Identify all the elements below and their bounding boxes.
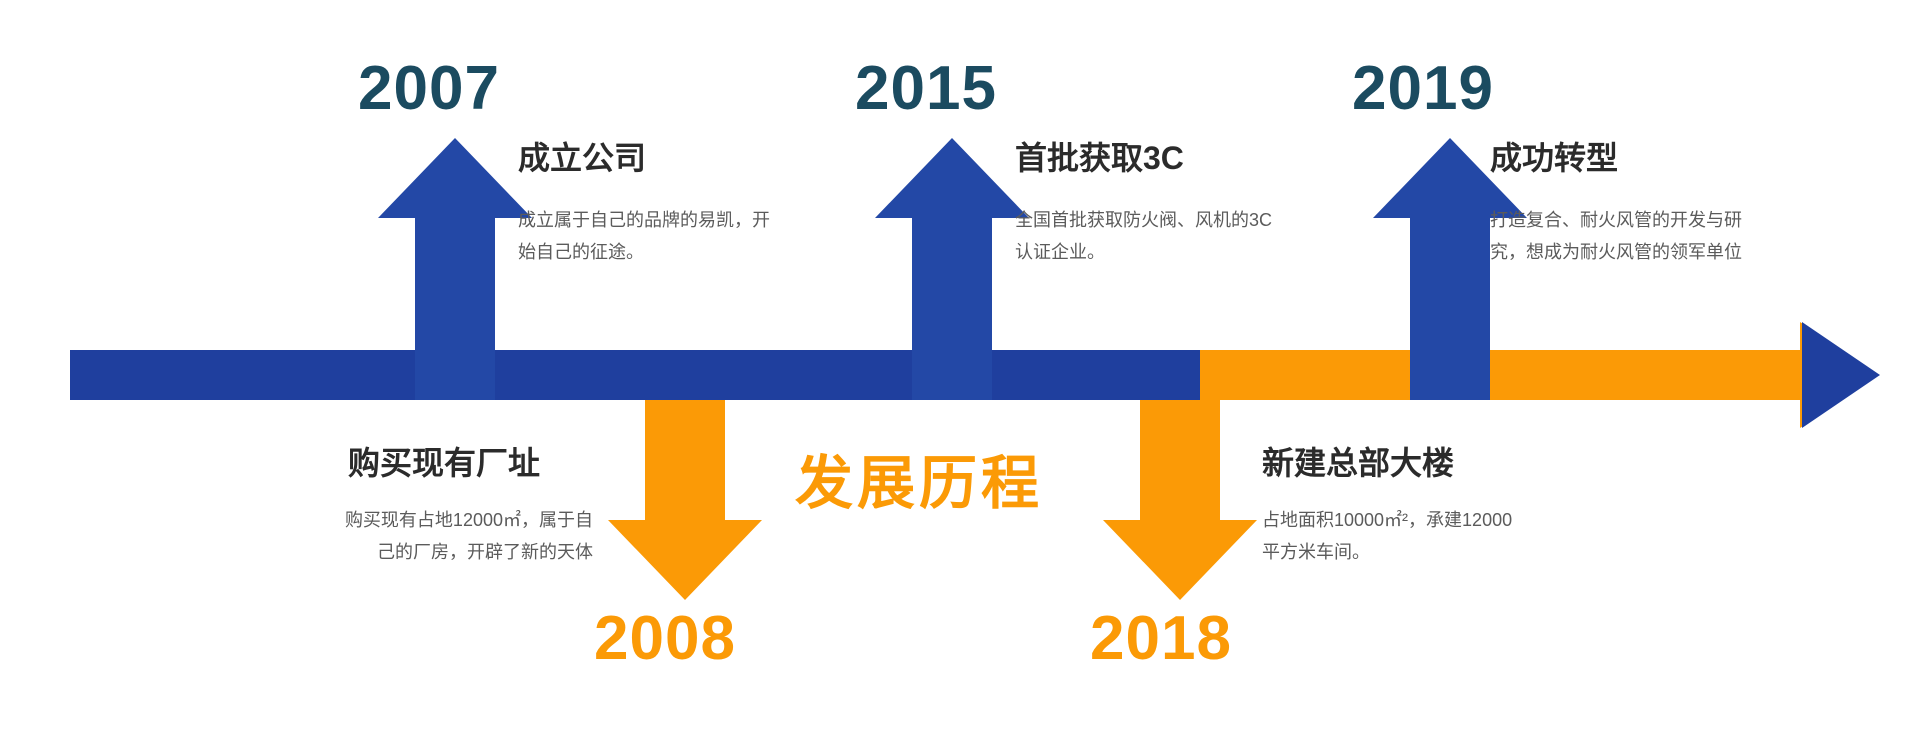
description-line: 己的厂房，开辟了新的天体 [268, 537, 593, 569]
description-line: 占地面积10000㎡²，承建12000 [1262, 505, 1592, 537]
description-2008: 购买现有占地12000㎡，属于自 己的厂房，开辟了新的天体 [268, 505, 593, 568]
description-line: 认证企业。 [1015, 237, 1355, 269]
description-2015: 全国首批获取防火阀、风机的3C 认证企业。 [1015, 205, 1355, 268]
heading-2007: 成立公司 [518, 140, 646, 177]
description-line: 始自己的征途。 [518, 237, 848, 269]
year-label-2018: 2018 [1090, 608, 1232, 670]
year-label-2019: 2019 [1352, 58, 1494, 120]
blue-main-bar [70, 350, 1200, 400]
description-line: 购买现有占地12000㎡，属于自 [268, 505, 593, 537]
description-line: 究，想成为耐火风管的领军单位 [1490, 237, 1830, 269]
description-line: 全国首批获取防火阀、风机的3C [1015, 205, 1355, 237]
heading-2018: 新建总部大楼 [1262, 445, 1454, 482]
year-label-2008: 2008 [594, 608, 736, 670]
description-line: 平方米车间。 [1262, 537, 1592, 569]
center-title: 发展历程 [795, 455, 1043, 513]
description-2007: 成立属于自己的品牌的易凯，开 始自己的征途。 [518, 205, 848, 268]
description-line: 成立属于自己的品牌的易凯，开 [518, 205, 848, 237]
description-2019: 打造复合、耐火风管的开发与研 究，想成为耐火风管的领军单位 [1490, 205, 1830, 268]
year-label-2015: 2015 [855, 58, 997, 120]
description-2018: 占地面积10000㎡²，承建12000 平方米车间。 [1262, 505, 1592, 568]
year-label-2007: 2007 [358, 58, 500, 120]
description-line: 打造复合、耐火风管的开发与研 [1490, 205, 1830, 237]
blue-end-arrowhead [1802, 322, 1880, 428]
timeline-infographic: 2007 2008 2015 2018 2019 成立公司 购买现有厂址 首批获… [0, 0, 1920, 737]
heading-2019: 成功转型 [1490, 140, 1618, 177]
heading-2008: 购买现有厂址 [348, 445, 540, 482]
heading-2015: 首批获取3C [1015, 140, 1184, 177]
